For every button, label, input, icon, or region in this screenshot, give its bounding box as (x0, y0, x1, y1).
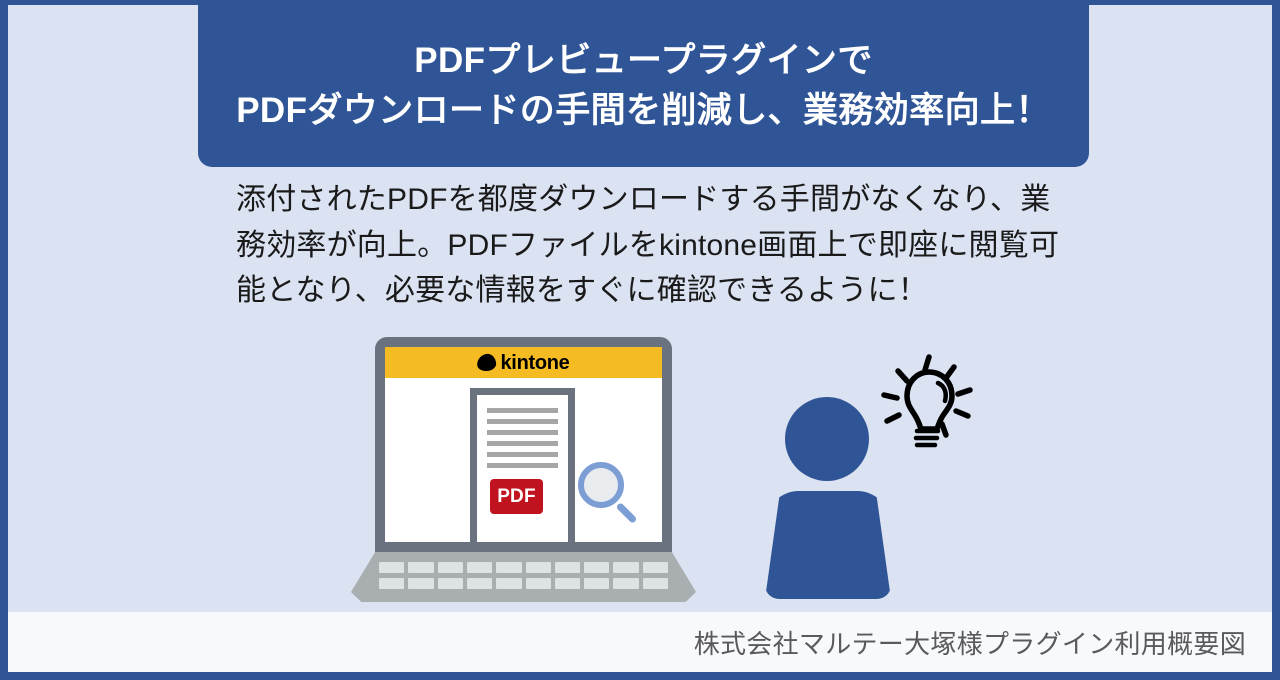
document-text-line (487, 441, 558, 446)
person-head (785, 397, 869, 481)
keyboard-key (526, 562, 551, 573)
slide-canvas: PDFプレビュープラグインで PDFダウンロードの手間を削減し、業務効率向上！ … (0, 0, 1280, 680)
description-text: 添付されたPDFを都度ダウンロードする手間がなくなり、業務効率が向上。PDFファ… (236, 177, 1074, 314)
magnifier-handle (616, 502, 638, 524)
keyboard-key (526, 578, 551, 589)
magnifier-icon (578, 462, 640, 524)
header-banner: PDFプレビュープラグインで PDFダウンロードの手間を削減し、業務効率向上！ (198, 0, 1089, 167)
keyboard-key (584, 578, 609, 589)
keyboard-key (408, 562, 433, 573)
keyboard-key (379, 578, 404, 589)
pdf-preview-modal: PDF (470, 388, 575, 542)
illustration-group: kintone PDF (8, 325, 1272, 605)
laptop-screen: kintone PDF (385, 347, 662, 542)
keyboard-key (496, 578, 521, 589)
keyboard-key (496, 562, 521, 573)
keyboard-key (584, 562, 609, 573)
laptop-screen-bezel: kintone PDF (375, 337, 672, 552)
magnifier-lens (578, 462, 624, 508)
document-text-line (487, 419, 558, 424)
keyboard-key (467, 562, 492, 573)
laptop-base (351, 552, 696, 602)
document-text-line (487, 463, 558, 468)
keyboard-key (643, 578, 668, 589)
document-text-line (487, 452, 558, 457)
keyboard-key (408, 578, 433, 589)
keyboard-key (555, 578, 580, 589)
document-text-line (487, 430, 558, 435)
keyboard-key (438, 578, 463, 589)
document-text-line (487, 408, 558, 413)
pdf-document-page: PDF (477, 395, 568, 542)
keyboard-row (379, 562, 668, 573)
person-avatar-icon (765, 397, 891, 599)
laptop-illustration: kintone PDF (351, 337, 696, 602)
page-title: PDFプレビュープラグインで PDFダウンロードの手間を削減し、業務効率向上！ (236, 36, 1051, 135)
footer-caption: 株式会社マルテー大塚様プラグイン利用概要図 (694, 624, 1246, 661)
footer-bar: 株式会社マルテー大塚様プラグイン利用概要図 (8, 612, 1272, 672)
laptop-keyboard (379, 562, 668, 592)
person-body (765, 491, 891, 599)
keyboard-key (438, 562, 463, 573)
kintone-cloud-icon (477, 353, 498, 372)
keyboard-key (555, 562, 580, 573)
keyboard-key (379, 562, 404, 573)
lightbulb-icon (876, 353, 982, 453)
keyboard-key (643, 562, 668, 573)
keyboard-key (613, 578, 638, 589)
keyboard-key (467, 578, 492, 589)
keyboard-key (613, 562, 638, 573)
pdf-badge: PDF (490, 479, 543, 514)
kintone-app-bar: kintone (385, 347, 662, 378)
kintone-wordmark: kintone (500, 353, 569, 373)
keyboard-row (379, 578, 668, 589)
